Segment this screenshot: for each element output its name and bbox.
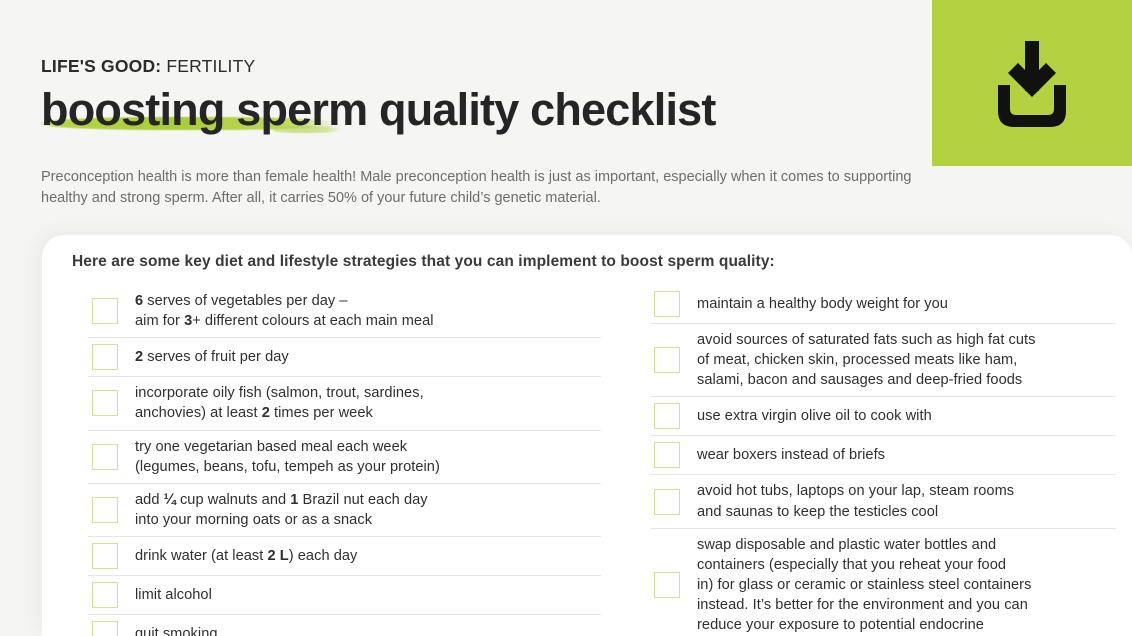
checklist-row[interactable]: wear boxers instead of briefs: [650, 436, 1116, 475]
page-title: boosting sperm quality checklist: [41, 83, 716, 136]
checklist-column-left: 6 serves of vegetables per day –aim for …: [88, 287, 601, 636]
checkbox-icon[interactable]: [92, 497, 118, 523]
page-header: LIFE'S GOOD: FERTILITY boosting sperm qu…: [0, 0, 932, 136]
checkbox-icon[interactable]: [654, 347, 680, 373]
card-heading: Here are some key diet and lifestyle str…: [72, 253, 775, 271]
eyebrow: LIFE'S GOOD: FERTILITY: [41, 56, 932, 77]
checklist-row-label: incorporate oily fish (salmon, trout, sa…: [135, 383, 424, 423]
checklist-row-label: 2 serves of fruit per day: [135, 347, 289, 367]
checklist-row-label: quit smoking: [135, 624, 218, 636]
checklist-row-label: add ¼ cup walnuts and 1 Brazil nut each …: [135, 490, 428, 530]
checklist-card: Here are some key diet and lifestyle str…: [42, 235, 1132, 636]
checklist-row-label: avoid hot tubs, laptops on your lap, ste…: [697, 481, 1014, 521]
eyebrow-strong: LIFE'S GOOD:: [41, 56, 161, 76]
checklist-row[interactable]: swap disposable and plastic water bottle…: [650, 529, 1116, 636]
checklist-row[interactable]: limit alcohol: [88, 576, 601, 615]
checkbox-icon[interactable]: [92, 582, 118, 608]
checklist-row-label: try one vegetarian based meal each week(…: [135, 437, 440, 477]
checkbox-icon[interactable]: [92, 444, 118, 470]
checklist-row[interactable]: avoid hot tubs, laptops on your lap, ste…: [650, 475, 1116, 528]
intro-paragraph: Preconception health is more than female…: [41, 167, 941, 208]
checklist-row[interactable]: 2 serves of fruit per day: [88, 338, 601, 377]
checklist-row[interactable]: add ¼ cup walnuts and 1 Brazil nut each …: [88, 484, 601, 537]
checklist-row[interactable]: quit smoking: [88, 615, 601, 636]
download-icon: [984, 37, 1080, 129]
checkbox-icon[interactable]: [654, 442, 680, 468]
checklist-row-label: avoid sources of saturated fats such as …: [697, 330, 1036, 390]
checklist-row-label: wear boxers instead of briefs: [697, 445, 885, 465]
checklist-row-label: use extra virgin olive oil to cook with: [697, 406, 932, 426]
checklist-row-label: swap disposable and plastic water bottle…: [697, 535, 1031, 636]
checklist-column-right: maintain a healthy body weight for youav…: [650, 287, 1116, 636]
checkbox-icon[interactable]: [654, 291, 680, 317]
checklist-row[interactable]: incorporate oily fish (salmon, trout, sa…: [88, 377, 601, 430]
checklist-row-label: 6 serves of vegetables per day –aim for …: [135, 291, 434, 331]
checklist-row[interactable]: drink water (at least 2 L) each day: [88, 537, 601, 576]
checkbox-icon[interactable]: [654, 572, 680, 598]
checkbox-icon[interactable]: [92, 298, 118, 324]
checkbox-icon[interactable]: [92, 621, 118, 636]
checklist-row[interactable]: maintain a healthy body weight for you: [650, 287, 1116, 324]
checklist-row[interactable]: try one vegetarian based meal each week(…: [88, 431, 601, 484]
checkbox-icon[interactable]: [654, 489, 680, 515]
checkbox-icon[interactable]: [654, 403, 680, 429]
checklist-row-label: maintain a healthy body weight for you: [697, 294, 948, 314]
download-button[interactable]: [932, 0, 1132, 166]
checkbox-icon[interactable]: [92, 543, 118, 569]
checkbox-icon[interactable]: [92, 390, 118, 416]
checklist-row[interactable]: use extra virgin olive oil to cook with: [650, 397, 1116, 436]
checkbox-icon[interactable]: [92, 344, 118, 370]
page-title-wrap: boosting sperm quality checklist: [41, 83, 716, 136]
checklist-row-label: limit alcohol: [135, 585, 212, 605]
checklist-row[interactable]: 6 serves of vegetables per day –aim for …: [88, 287, 601, 338]
checklist-columns: 6 serves of vegetables per day –aim for …: [42, 287, 1132, 636]
checklist-row[interactable]: avoid sources of saturated fats such as …: [650, 324, 1116, 397]
eyebrow-light: FERTILITY: [161, 56, 255, 76]
checklist-row-label: drink water (at least 2 L) each day: [135, 546, 357, 566]
